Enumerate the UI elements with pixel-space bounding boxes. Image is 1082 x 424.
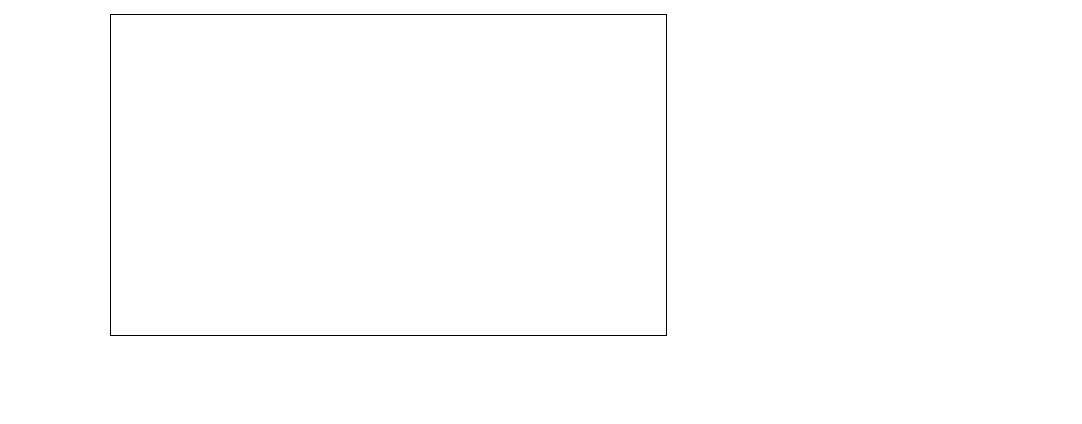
y-axis-title <box>2 30 30 330</box>
plot-frame <box>110 14 667 336</box>
chart-page <box>0 0 1082 424</box>
notes-panel <box>690 24 1072 46</box>
chart-container <box>0 0 680 424</box>
bar-series-layer <box>111 15 666 335</box>
plot-area <box>110 14 667 336</box>
